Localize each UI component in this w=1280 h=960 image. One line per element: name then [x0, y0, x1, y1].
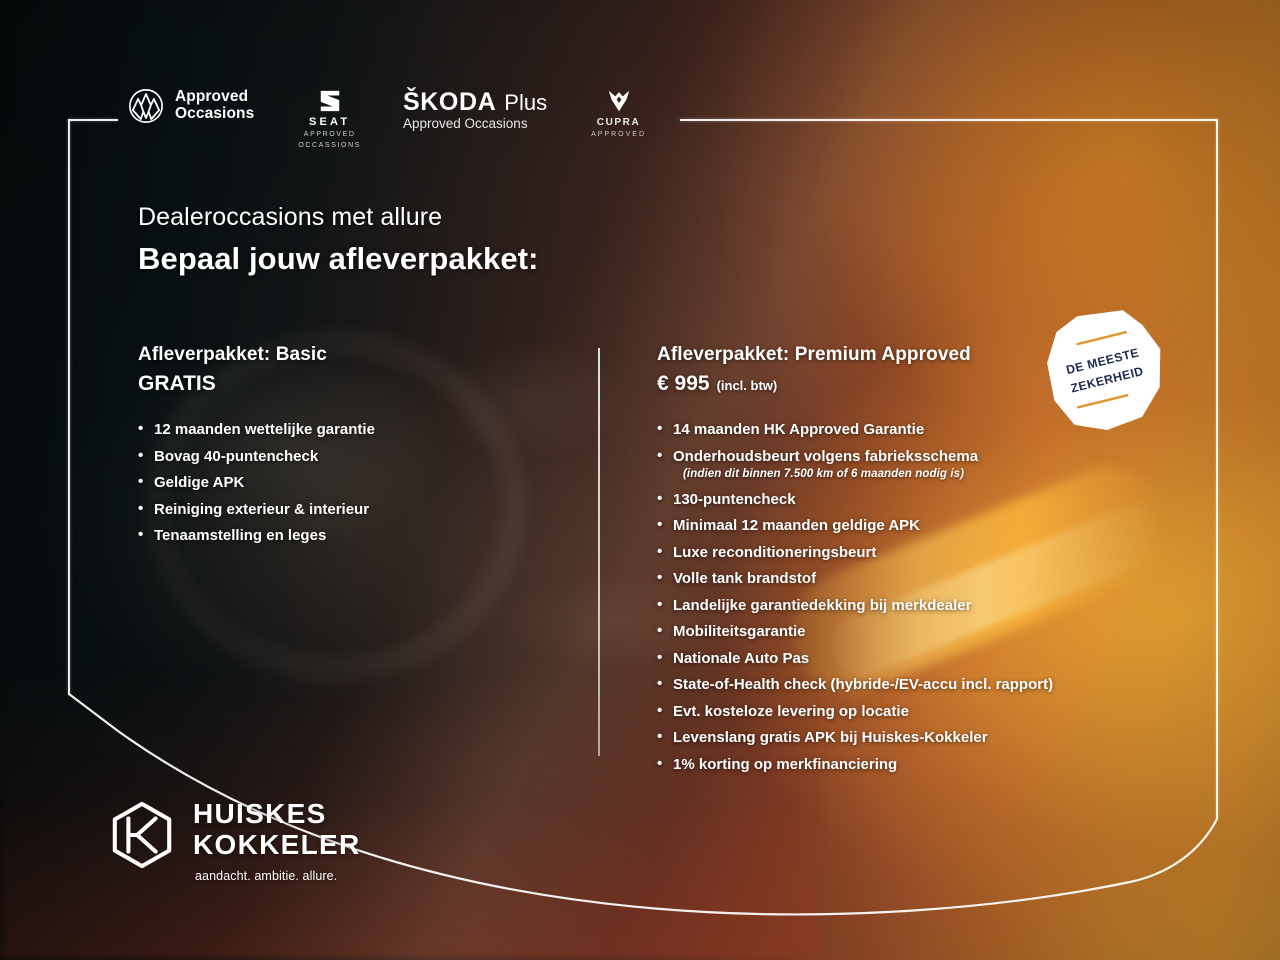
cupra-logo: CUPRA APPROVED: [591, 88, 646, 138]
skoda-plus-label: Plus: [504, 90, 547, 116]
dealer-tagline: aandacht. ambitie. allure.: [195, 869, 361, 883]
package-premium-feature-list: 14 maanden HK Approved GarantieOnderhoud…: [657, 422, 1157, 772]
feature-item-label: 12 maanden wettelijke garantie: [154, 421, 375, 438]
headline-kicker: Dealeroccasions met allure: [138, 203, 539, 232]
feature-item: Tenaamstelling en leges: [138, 528, 568, 543]
headline-block: Dealeroccasions met allure Bepaal jouw a…: [138, 203, 539, 277]
feature-item: Luxe reconditioneringsbeurt: [657, 545, 1157, 560]
most-certainty-badge: DE MEESTE ZEKERHEID: [1041, 305, 1169, 437]
feature-item-label: Geldige APK: [154, 474, 244, 491]
skoda-logo: ŠKODA Plus Approved Occasions: [403, 88, 547, 131]
feature-item-label: Luxe reconditioneringsbeurt: [673, 544, 876, 561]
feature-item: Reiniging exterieur & interieur: [138, 502, 568, 517]
feature-item: Levenslang gratis APK bij Huiskes-Kokkel…: [657, 730, 1157, 745]
huiskes-kokkeler-logo: HUISKES KOKKELER aandacht. ambitie. allu…: [108, 798, 361, 883]
vw-label-occasions: Occasions: [175, 106, 254, 123]
seat-label-approved: APPROVED: [298, 130, 361, 141]
feature-item-label: Bovag 40-puntencheck: [154, 448, 318, 465]
feature-item-label: Mobiliteitsgarantie: [673, 623, 806, 640]
feature-item: Evt. kosteloze levering op locatie: [657, 704, 1157, 719]
feature-item: State-of-Health check (hybride-/EV-accu …: [657, 677, 1157, 692]
package-basic-feature-list: 12 maanden wettelijke garantieBovag 40-p…: [138, 422, 568, 543]
feature-item: Landelijke garantiedekking bij merkdeale…: [657, 598, 1157, 613]
feature-item-label: Evt. kosteloze levering op locatie: [673, 703, 909, 720]
feature-item: 1% korting op merkfinanciering: [657, 757, 1157, 772]
feature-item: Minimaal 12 maanden geldige APK: [657, 518, 1157, 533]
feature-item: 130-puntencheck: [657, 492, 1157, 507]
package-basic-price: GRATIS: [138, 372, 568, 396]
seat-s-icon: [318, 88, 342, 114]
volkswagen-icon: [128, 88, 164, 124]
package-basic-title: Afleverpakket: Basic: [138, 344, 568, 366]
package-basic: Afleverpakket: Basic GRATIS 12 maanden w…: [138, 344, 568, 555]
headline-title: Bepaal jouw afleverpakket:: [138, 241, 539, 277]
feature-item-label: Levenslang gratis APK bij Huiskes-Kokkel…: [673, 729, 988, 746]
feature-item-label: State-of-Health check (hybride-/EV-accu …: [673, 676, 1053, 693]
volkswagen-logo: Approved Occasions: [128, 88, 254, 124]
dealer-name-line-2: KOKKELER: [193, 829, 361, 860]
feature-item-label: Minimaal 12 maanden geldige APK: [673, 517, 920, 534]
poster-canvas: Approved Occasions SEAT APPROVED OCCASSI…: [0, 0, 1280, 960]
volkswagen-wordmark: Approved Occasions: [175, 89, 254, 122]
vw-label-approved: Approved: [175, 89, 254, 106]
hk-monogram-icon: [108, 801, 176, 869]
feature-item: Bovag 40-puntencheck: [138, 449, 568, 464]
seat-label-occassions: OCCASSIONS: [298, 141, 361, 152]
skoda-wordmark: ŠKODA: [403, 88, 496, 117]
feature-item-label: Onderhoudsbeurt volgens fabrieksschema: [673, 448, 978, 465]
feature-item-label: Nationale Auto Pas: [673, 650, 809, 667]
package-premium-vat-note: (incl. btw): [717, 378, 778, 393]
feature-item-label: 130-puntencheck: [673, 491, 796, 508]
feature-item: Geldige APK: [138, 475, 568, 490]
cupra-sublabel: APPROVED: [591, 131, 646, 138]
feature-item: 12 maanden wettelijke garantie: [138, 422, 568, 437]
feature-item: Nationale Auto Pas: [657, 651, 1157, 666]
brand-logo-row: Approved Occasions SEAT APPROVED OCCASSI…: [128, 88, 646, 150]
feature-item-label: Landelijke garantiedekking bij merkdeale…: [673, 597, 971, 614]
feature-item: Onderhoudsbeurt volgens fabrieksschema(i…: [657, 449, 1157, 481]
cupra-wordmark: CUPRA: [597, 117, 641, 128]
seat-logo: SEAT APPROVED OCCASSIONS: [298, 88, 361, 151]
feature-item-label: Volle tank brandstof: [673, 570, 816, 587]
feature-item-label: 14 maanden HK Approved Garantie: [673, 421, 924, 438]
skoda-sublabel: Approved Occasions: [403, 116, 528, 131]
dealer-name-line-1: HUISKES: [193, 798, 361, 829]
feature-item-label: Reiniging exterieur & interieur: [154, 501, 369, 518]
feature-item-note: (indien dit binnen 7.500 km of 6 maanden…: [683, 469, 1157, 481]
feature-item-label: Tenaamstelling en leges: [154, 527, 326, 544]
seat-wordmark: SEAT: [309, 116, 350, 128]
package-premium-price-value: € 995: [657, 372, 710, 395]
feature-item: Volle tank brandstof: [657, 571, 1157, 586]
feature-item: Mobiliteitsgarantie: [657, 624, 1157, 639]
feature-item-label: 1% korting op merkfinanciering: [673, 756, 897, 773]
cupra-tribal-icon: [606, 88, 632, 114]
package-basic-price-value: GRATIS: [138, 372, 216, 395]
seat-sublabel: APPROVED OCCASSIONS: [298, 130, 361, 151]
